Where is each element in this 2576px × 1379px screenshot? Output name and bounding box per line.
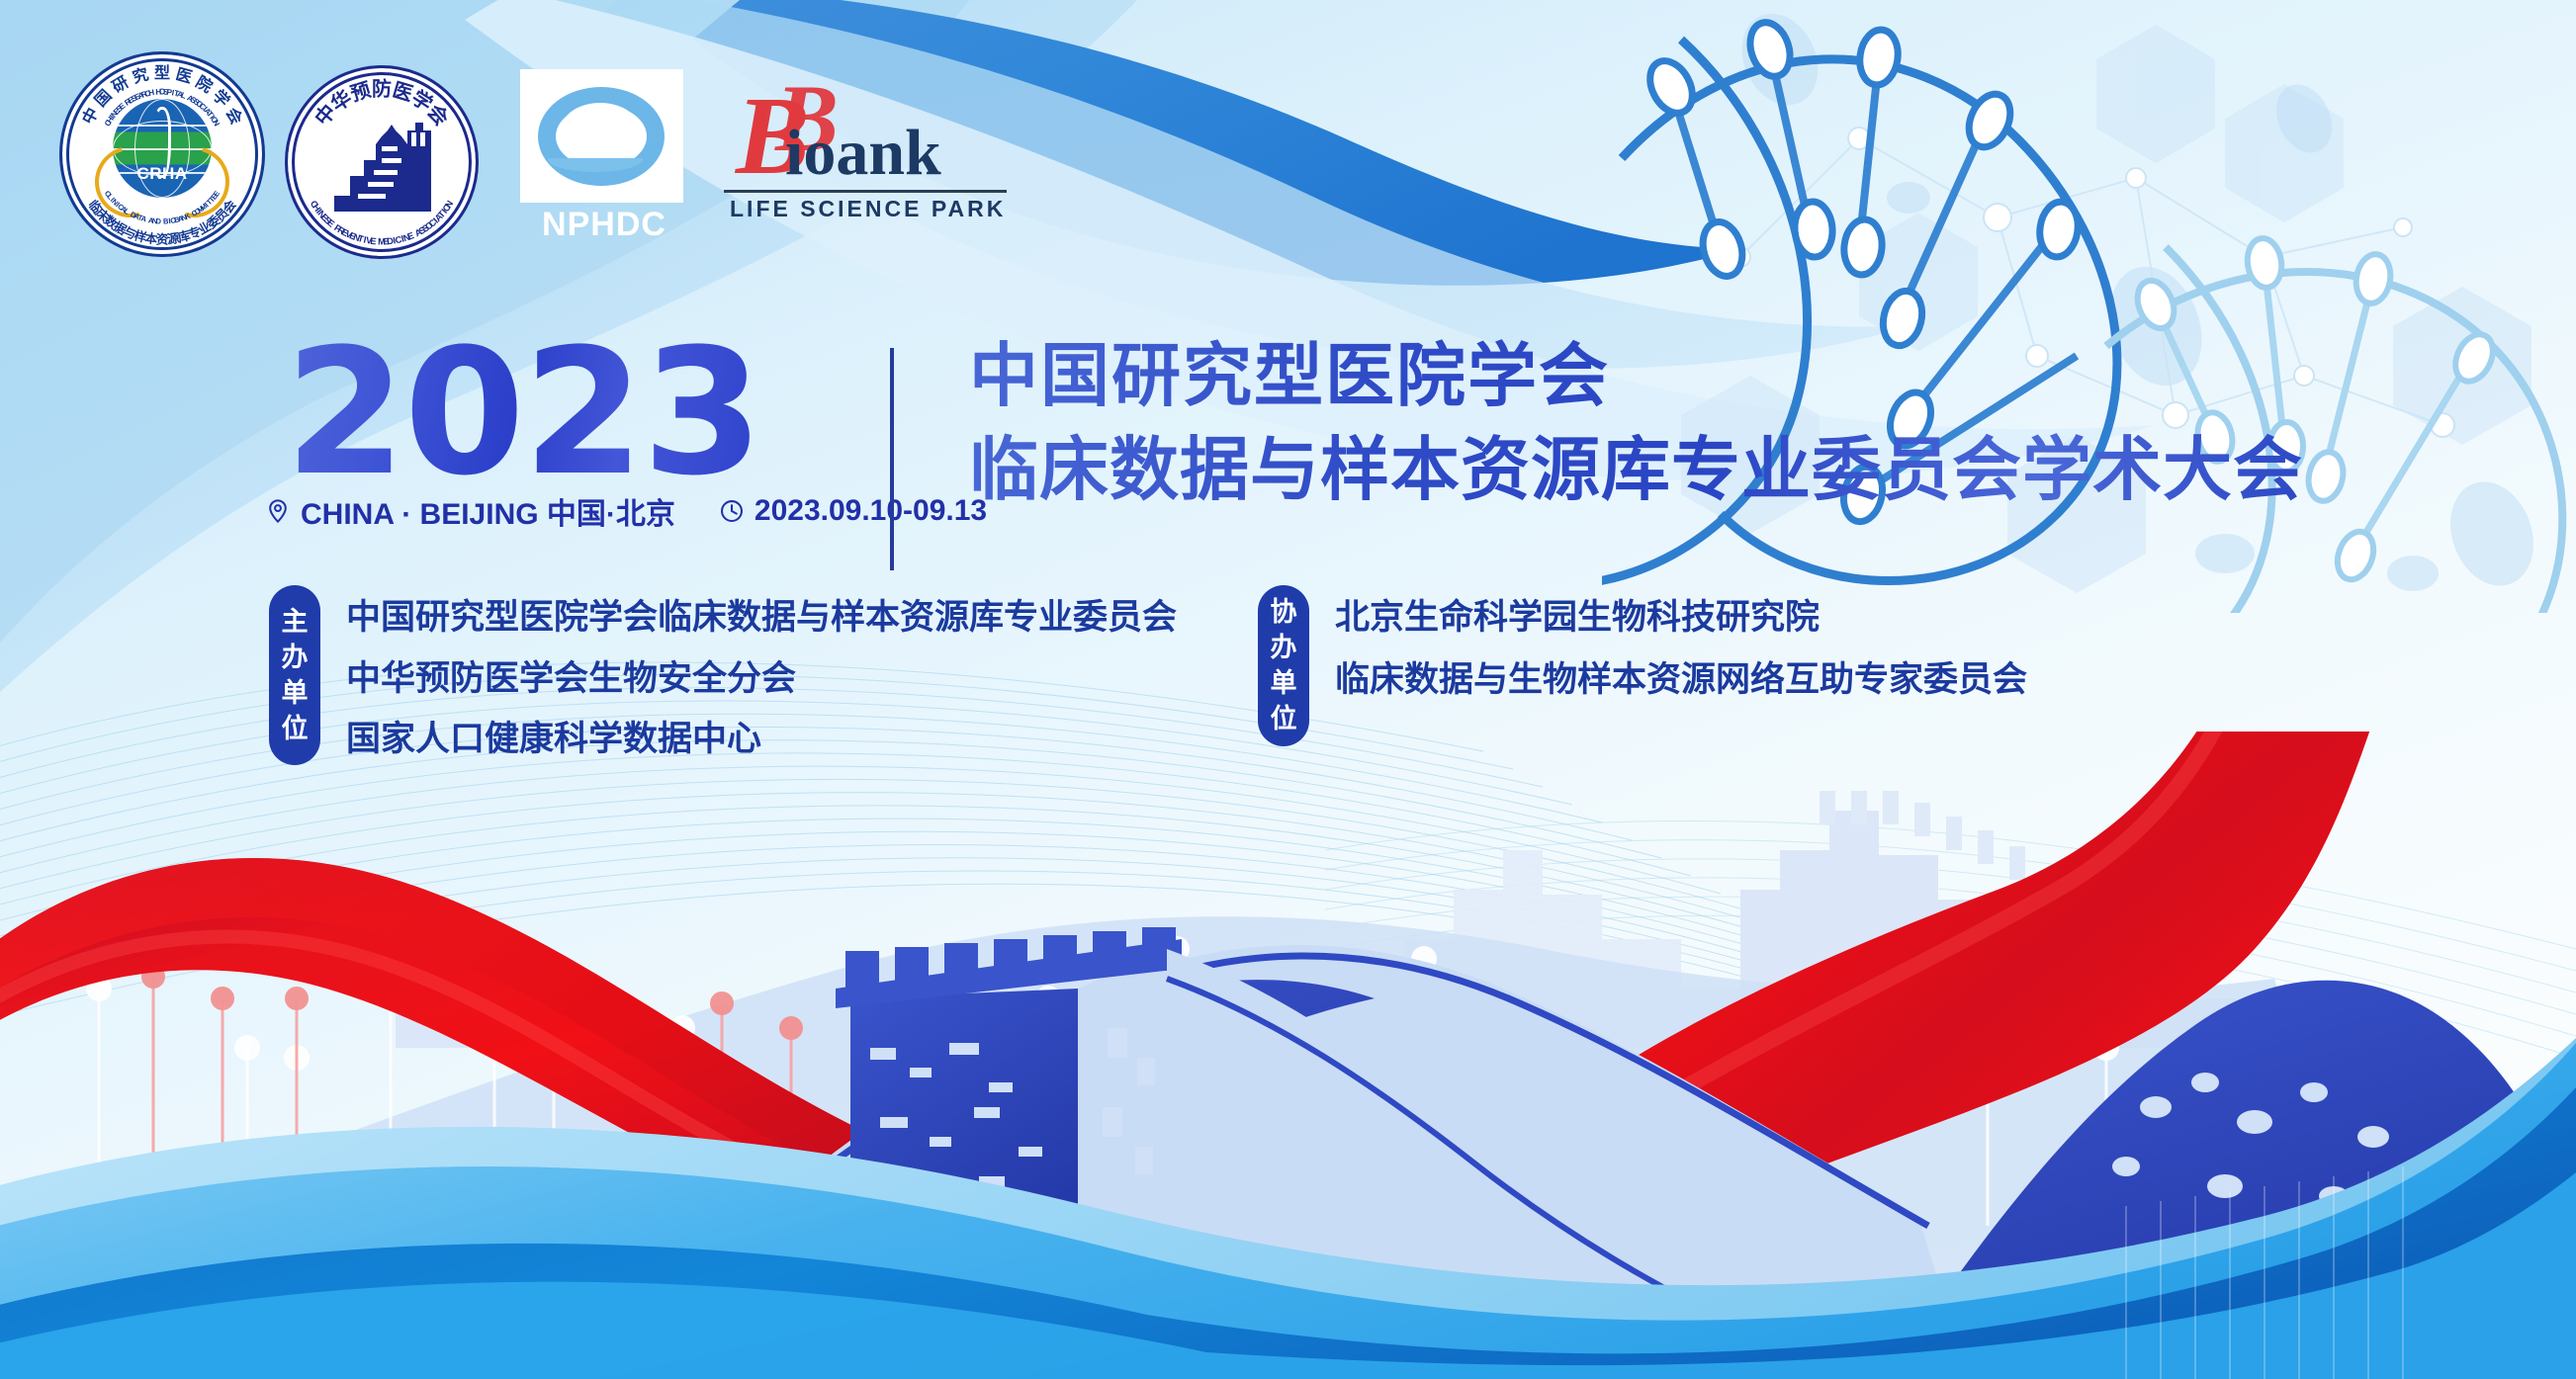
date-item: 2023.09.10-09.13 xyxy=(719,494,987,528)
biobank-wordmark: ioank xyxy=(785,121,941,186)
nphdc-label: NPHDC xyxy=(510,206,698,244)
host-item: 中国研究型医院学会临床数据与样本资源库专业委员会 xyxy=(346,589,1177,640)
biobank-rule xyxy=(724,190,1007,193)
conference-banner: CRHA 中国研究型医院学会 CHINESE RESEARCH HOSPITAL… xyxy=(0,0,2576,1379)
nphdc-card xyxy=(520,69,683,203)
co-organizers: 协 办 单 位 北京生命科学园生物科技研究院 临床数据与生物样本资源网络互助专家… xyxy=(1258,585,2027,746)
co-host-tag: 协 办 单 位 xyxy=(1258,585,1309,746)
year-2023: 2023 xyxy=(285,326,761,500)
nphdc-e-tail-icon xyxy=(548,146,643,172)
date-text: 2023.09.10-09.13 xyxy=(755,494,987,528)
crha-bottom-en: CLINICAL DATA AND BIOBANK COMMITTEE xyxy=(59,51,265,257)
host-organizers: 主 办 单 位 中国研究型医院学会临床数据与样本资源库专业委员会 中华预防医学会… xyxy=(269,585,1177,765)
co-host-tag-char-0: 协 xyxy=(1271,599,1297,626)
host-list: 中国研究型医院学会临床数据与样本资源库专业委员会 中华预防医学会生物安全分会 国… xyxy=(346,585,1177,765)
co-host-tag-char-1: 办 xyxy=(1271,635,1297,661)
conference-title-line-1: 中国研究型医院学会 xyxy=(969,336,2303,416)
co-host-tag-char-3: 位 xyxy=(1271,706,1297,733)
logo-crha: CRHA 中国研究型医院学会 CHINESE RESEARCH HOSPITAL… xyxy=(59,51,267,259)
host-tag-char-1: 办 xyxy=(282,645,309,671)
logo-biobank: B B ioank LIFE SCIENCE PARK xyxy=(724,61,1021,259)
cpma-bottom-en: CHINESE PREVENTIVE MEDICINE ASSOCIATION xyxy=(285,65,479,259)
conference-title-line-2: 临床数据与样本资源库专业委员会学术大会 xyxy=(969,430,2303,510)
location-text: CHINA · BEIJING 中国·北京 xyxy=(301,489,675,533)
host-item: 中华预防医学会生物安全分会 xyxy=(346,650,1177,701)
host-tag-char-0: 主 xyxy=(282,609,309,636)
nphdc-e-dot-icon xyxy=(564,138,576,150)
host-item: 国家人口健康科学数据中心 xyxy=(346,711,1177,761)
cpma-ring-text: 中华预防医学会 CHINESE PREVENTIVE MEDICINE ASSO… xyxy=(285,65,479,259)
location-pin-icon xyxy=(265,498,291,524)
host-tag-char-3: 位 xyxy=(282,716,309,742)
co-host-item: 临床数据与生物样本资源网络互助专家委员会 xyxy=(1335,651,2027,702)
biobank-subtitle: LIFE SCIENCE PARK xyxy=(730,196,1006,222)
host-tag-char-2: 单 xyxy=(282,680,309,707)
event-meta-row: CHINA · BEIJING 中国·北京 2023.09.10-09.13 xyxy=(265,489,987,533)
logo-row: CRHA 中国研究型医院学会 CHINESE RESEARCH HOSPITAL… xyxy=(59,51,1021,259)
logo-cpma: 中华预防医学会 CHINESE PREVENTIVE MEDICINE ASSO… xyxy=(285,61,483,259)
co-host-item: 北京生命科学园生物科技研究院 xyxy=(1335,589,2027,640)
co-host-tag-char-2: 单 xyxy=(1271,670,1297,697)
co-host-list: 北京生命科学园生物科技研究院 临床数据与生物样本资源网络互助专家委员会 xyxy=(1335,585,2027,706)
logo-nphdc: NPHDC xyxy=(510,61,698,259)
location-item: CHINA · BEIJING 中国·北京 xyxy=(265,489,675,533)
crha-ring-text: 中国研究型医院学会 CHINESE RESEARCH HOSPITAL ASSO… xyxy=(59,51,265,257)
clock-icon xyxy=(719,498,745,524)
headline-divider xyxy=(890,348,894,570)
host-tag: 主 办 单 位 xyxy=(269,585,320,765)
title-block: 中国研究型医院学会 临床数据与样本资源库专业委员会学术大会 xyxy=(969,336,2303,510)
